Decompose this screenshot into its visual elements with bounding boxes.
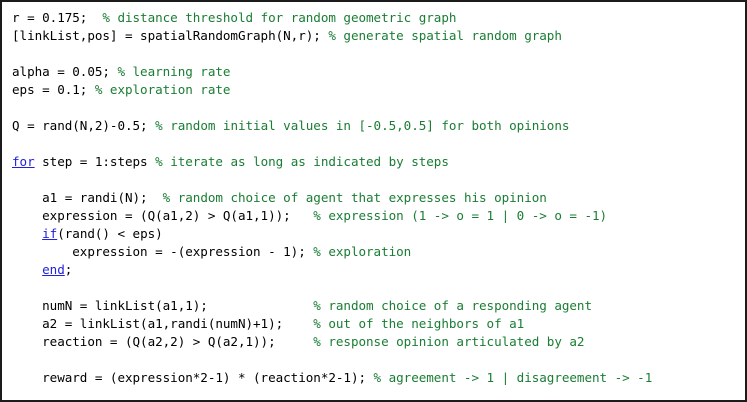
code-token-plain: a2 = linkList(a1,randi(numN)+1);	[12, 316, 313, 331]
code-line: end;	[12, 261, 743, 279]
code-token-plain: expression = -(expression - 1);	[12, 244, 313, 259]
code-token-plain: (rand() < eps)	[57, 226, 162, 241]
code-token-plain: a1 = randi(N);	[12, 190, 163, 205]
code-token-comment: % random initial values in [-0.5,0.5] fo…	[155, 118, 569, 133]
code-token-keyword: end	[42, 262, 65, 277]
code-token-plain	[12, 262, 42, 277]
code-line	[12, 351, 743, 369]
code-line: expression = -(expression - 1); % explor…	[12, 243, 743, 261]
code-token-keyword: for	[12, 154, 35, 169]
code-line	[12, 99, 743, 117]
code-token-comment: % learning rate	[117, 64, 230, 79]
code-line	[12, 279, 743, 297]
code-listing-window: r = 0.175; % distance threshold for rand…	[0, 0, 747, 402]
code-line: for step = 1:steps % iterate as long as …	[12, 153, 743, 171]
code-token-comment: % exploration rate	[95, 82, 231, 97]
code-token-comment: % agreement -> 1 | disagreement -> -1	[374, 370, 653, 385]
code-token-plain: [linkList,pos] = spatialRandomGraph(N,r)…	[12, 28, 328, 43]
code-line: [linkList,pos] = spatialRandomGraph(N,r)…	[12, 27, 743, 45]
code-token-comment: % generate spatial random graph	[328, 28, 562, 43]
code-token-plain: r = 0.175;	[12, 10, 102, 25]
code-line: if(rand() < eps)	[12, 225, 743, 243]
code-token-comment: % exploration	[313, 244, 411, 259]
code-token-comment: % random choice of a responding agent	[313, 298, 592, 313]
code-token-plain: reward = (expression*2-1) * (reaction*2-…	[12, 370, 374, 385]
code-line: eps = 0.1; % exploration rate	[12, 81, 743, 99]
code-line: alpha = 0.05; % learning rate	[12, 63, 743, 81]
code-token-plain: expression = (Q(a1,2) > Q(a1,1));	[12, 208, 313, 223]
code-token-plain: Q = rand(N,2)-0.5;	[12, 118, 155, 133]
code-line: numN = linkList(a1,1); % random choice o…	[12, 297, 743, 315]
code-listing-body[interactable]: r = 0.175; % distance threshold for rand…	[12, 9, 743, 402]
code-token-plain: reaction = (Q(a2,2) > Q(a2,1));	[12, 334, 313, 349]
code-line: expression = (Q(a1,2) > Q(a1,1)); % expr…	[12, 207, 743, 225]
code-token-comment: % random choice of agent that expresses …	[163, 190, 547, 205]
code-token-comment: % distance threshold for random geometri…	[102, 10, 456, 25]
code-token-plain: eps = 0.1;	[12, 82, 95, 97]
code-token-plain: step = 1:steps	[35, 154, 156, 169]
code-line: reaction = (Q(a2,2) > Q(a2,1)); % respon…	[12, 333, 743, 351]
code-line: a2 = linkList(a1,randi(numN)+1); % out o…	[12, 315, 743, 333]
code-line	[12, 135, 743, 153]
code-token-comment: % out of the neighbors of a1	[313, 316, 524, 331]
code-token-keyword: if	[42, 226, 57, 241]
code-token-comment: % iterate as long as indicated by steps	[155, 154, 449, 169]
code-token-plain	[12, 226, 42, 241]
code-line	[12, 387, 743, 402]
code-line: Q = rand(N,2)-0.5; % random initial valu…	[12, 117, 743, 135]
code-line	[12, 171, 743, 189]
code-token-plain: ;	[65, 262, 73, 277]
code-line	[12, 45, 743, 63]
code-line: r = 0.175; % distance threshold for rand…	[12, 9, 743, 27]
code-token-plain: alpha = 0.05;	[12, 64, 117, 79]
code-line: reward = (expression*2-1) * (reaction*2-…	[12, 369, 743, 387]
code-token-comment: % expression (1 -> o = 1 | 0 -> o = -1)	[313, 208, 607, 223]
code-line: a1 = randi(N); % random choice of agent …	[12, 189, 743, 207]
code-token-comment: % response opinion articulated by a2	[313, 334, 584, 349]
code-token-plain: numN = linkList(a1,1);	[12, 298, 313, 313]
